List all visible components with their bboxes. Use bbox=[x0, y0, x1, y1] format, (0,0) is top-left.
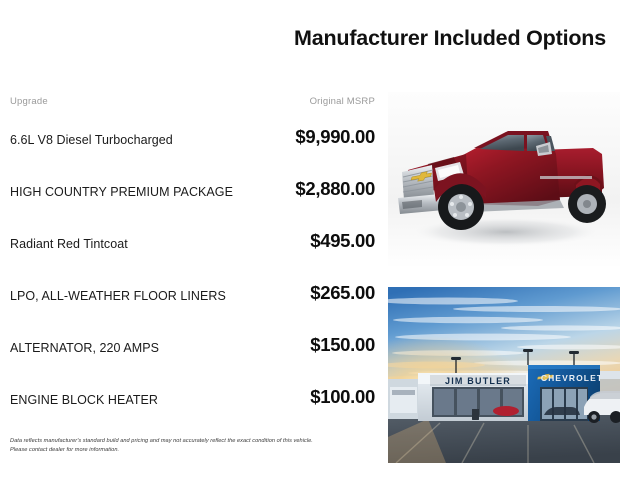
dealership-sign-primary: JIM BUTLER bbox=[445, 376, 511, 386]
option-label: HIGH COUNTRY PREMIUM PACKAGE bbox=[10, 185, 233, 199]
table-row: ENGINE BLOCK HEATER $100.00 bbox=[10, 380, 375, 432]
option-label: LPO, ALL-WEATHER FLOOR LINERS bbox=[10, 289, 226, 303]
disclaimer-text: Data reflects manufacturer's standard bu… bbox=[10, 437, 382, 455]
option-label: Radiant Red Tintcoat bbox=[10, 237, 128, 251]
disclaimer-line-1: Data reflects manufacturer's standard bu… bbox=[10, 437, 382, 446]
included-options-table: Upgrade Original MSRP 6.6L V8 Diesel Tur… bbox=[10, 96, 375, 432]
option-price: $2,880.00 bbox=[295, 178, 375, 200]
dealership-photo[interactable]: JIM BUTLER CHEVROLET bbox=[388, 287, 620, 463]
table-row: 6.6L V8 Diesel Turbocharged $9,990.00 bbox=[10, 120, 375, 172]
column-header-msrp: Original MSRP bbox=[310, 96, 375, 107]
option-price: $495.00 bbox=[310, 230, 375, 252]
disclaimer-line-2: Please contact dealer for more informati… bbox=[10, 446, 382, 455]
table-row: Radiant Red Tintcoat $495.00 bbox=[10, 224, 375, 276]
option-label: ALTERNATOR, 220 AMPS bbox=[10, 341, 159, 355]
option-price: $9,990.00 bbox=[295, 126, 375, 148]
vehicle-photo-image bbox=[388, 92, 620, 268]
option-price: $150.00 bbox=[310, 334, 375, 356]
page-title: Manufacturer Included Options bbox=[290, 26, 610, 51]
column-header-upgrade: Upgrade bbox=[10, 96, 48, 107]
option-price: $100.00 bbox=[310, 386, 375, 408]
vehicle-photo[interactable] bbox=[388, 92, 620, 268]
table-row: ALTERNATOR, 220 AMPS $150.00 bbox=[10, 328, 375, 380]
table-row: LPO, ALL-WEATHER FLOOR LINERS $265.00 bbox=[10, 276, 375, 328]
table-row: HIGH COUNTRY PREMIUM PACKAGE $2,880.00 bbox=[10, 172, 375, 224]
table-header-row: Upgrade Original MSRP bbox=[10, 96, 375, 120]
option-label: ENGINE BLOCK HEATER bbox=[10, 393, 158, 407]
option-label: 6.6L V8 Diesel Turbocharged bbox=[10, 133, 173, 147]
dealership-sign-secondary: CHEVROLET bbox=[541, 373, 603, 383]
option-price: $265.00 bbox=[310, 282, 375, 304]
rear-wheel bbox=[568, 185, 606, 223]
dealership-photo-image: JIM BUTLER CHEVROLET bbox=[388, 287, 620, 463]
